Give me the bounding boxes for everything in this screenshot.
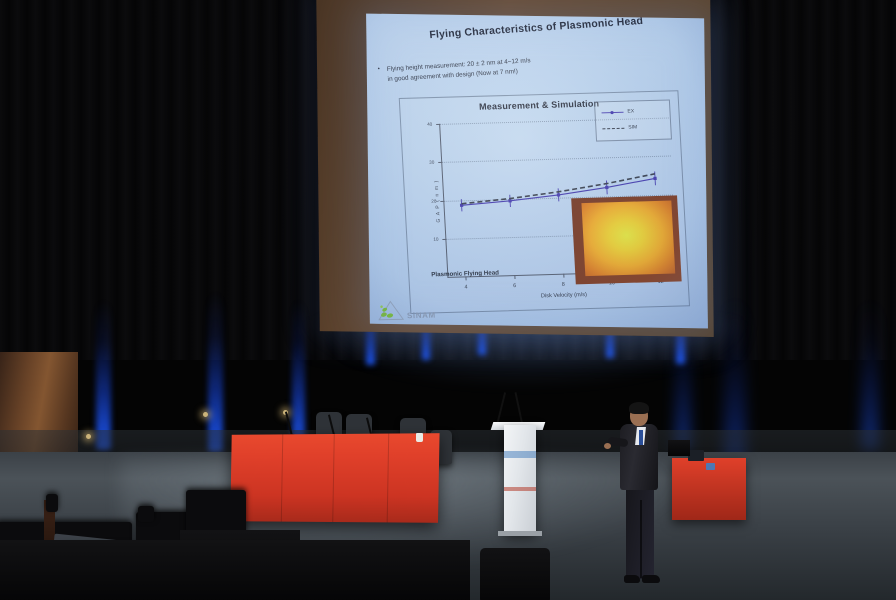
speaker-hair [629, 402, 649, 414]
triangle-logo-icon [377, 300, 404, 321]
foreground-seat [480, 548, 550, 600]
podium-logo-band [504, 451, 536, 458]
chart-y-tick-label: 20 [431, 198, 436, 203]
speaker-hand [604, 443, 611, 449]
presentation-slide: Flying Characteristics of Plasmonic Head… [366, 14, 708, 329]
legend-dash-icon [602, 127, 624, 129]
equipment-case [668, 440, 690, 456]
chart-y-tick-label: 40 [427, 122, 432, 127]
slide-bullet-item: Flying height measurement: 20 ± 2 nm at … [374, 46, 695, 85]
speaker-shoe [642, 575, 660, 583]
laptop [688, 450, 704, 461]
inset-thermal-field [581, 201, 675, 277]
water-cup [416, 433, 423, 442]
slide-title: Flying Characteristics of Plasmonic Head [386, 14, 686, 44]
chart-data-marker [653, 177, 656, 180]
chart-data-marker [508, 199, 511, 202]
chart-data-marker [605, 186, 608, 189]
speaker-leg-seam [640, 500, 642, 578]
chart-container: Measurement & Simulation G A P ( n m ) D… [399, 90, 690, 314]
uplight-beam [96, 300, 111, 450]
chart-x-tick [514, 275, 515, 279]
laptop-screen [706, 463, 715, 470]
legend-entry-sim: SIM [602, 124, 637, 131]
speaker-tie [639, 430, 643, 445]
chart-x-tick-label: 6 [513, 283, 516, 289]
uplight-beam [862, 300, 878, 450]
chart-legend: EX SIM [594, 99, 672, 141]
plasmonic-head-inset-image [571, 195, 681, 284]
speaker-shoe [624, 575, 640, 583]
chart-x-tick [563, 274, 564, 278]
legend-label: SIM [628, 124, 637, 130]
uplight-beam [208, 292, 223, 452]
legend-entry-ex: EX [601, 108, 634, 115]
chart-x-tick-label: 4 [464, 284, 467, 290]
sinam-logo: SiNAM [377, 300, 436, 321]
bullet-line-2: in good agreement with design (Now at 7 … [387, 56, 695, 85]
chart-y-tick-label: 10 [433, 236, 438, 241]
inset-caption: Plasmonic Flying Head [431, 269, 499, 278]
chart-x-axis-label: Disk Velocity (m/s) [449, 289, 678, 301]
projection-screen: Flying Characteristics of Plasmonic Head… [366, 14, 708, 329]
legend-label: EX [627, 108, 634, 114]
legend-line-icon [602, 111, 624, 113]
seat-back [138, 506, 154, 522]
foreground-seat [0, 540, 470, 600]
chart-x-tick-label: 8 [562, 282, 565, 288]
stage-lamp [86, 434, 91, 439]
logo-text: SiNAM [407, 311, 436, 321]
slide-bullet-list: Flying height measurement: 20 ± 2 nm at … [374, 46, 695, 85]
seat-back [46, 494, 58, 512]
chart-data-marker [557, 193, 560, 196]
stage-lamp [203, 412, 208, 417]
chart-y-tick-label: 30 [429, 160, 434, 165]
auditorium-photo: Flying Characteristics of Plasmonic Head… [0, 0, 896, 600]
